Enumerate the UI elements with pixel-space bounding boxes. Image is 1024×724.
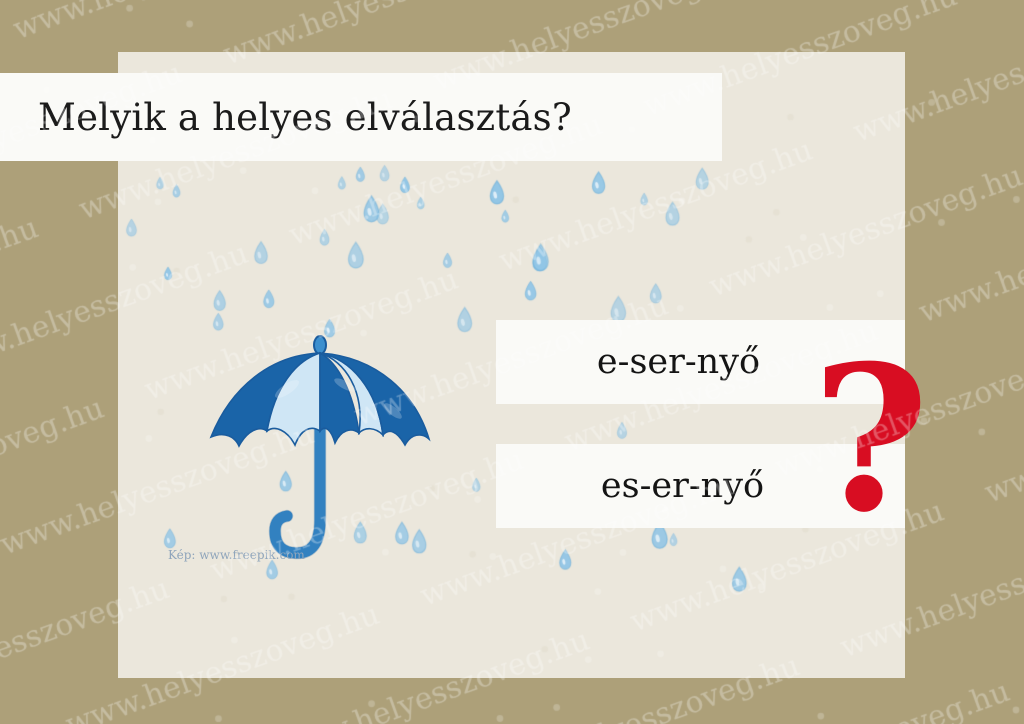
answer-option-2-label: es-er-nyő — [601, 466, 764, 506]
answer-option-1[interactable]: e-ser-nyő — [496, 320, 905, 404]
answer-option-1-label: e-ser-nyő — [597, 342, 760, 382]
answer-option-2[interactable]: es-er-nyő — [496, 444, 905, 528]
page-title: Melyik a helyes elválasztás? — [0, 96, 572, 139]
question-title-band: Melyik a helyes elválasztás? — [0, 73, 722, 161]
image-credit: Kép: www.freepik.com — [168, 548, 305, 562]
right-tan-stripe — [905, 400, 1024, 441]
umbrella-illustration — [205, 315, 435, 580]
